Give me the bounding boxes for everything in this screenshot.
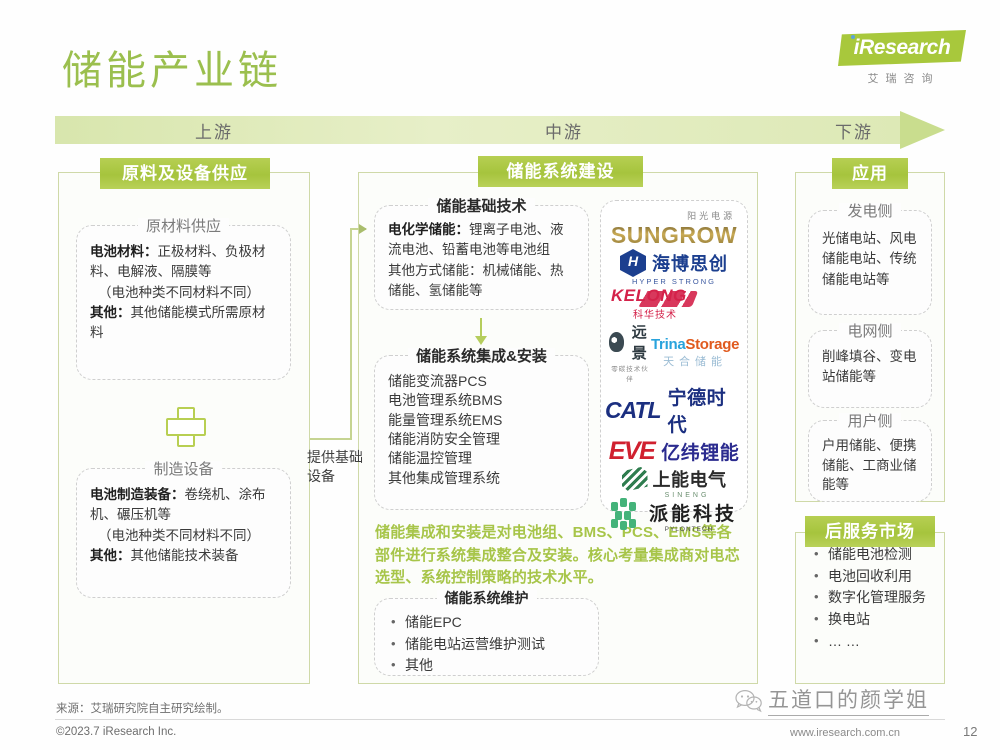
- iresearch-logo: iResearch 艾瑞咨询: [830, 30, 970, 92]
- down-arrow-head: [475, 336, 487, 345]
- list-item: 储能EPC: [389, 612, 598, 634]
- wechat-watermark-text: 五道口的颜学姐: [768, 684, 929, 716]
- down-arrow-icon: [474, 318, 488, 346]
- list-item: 电池回收利用: [812, 566, 940, 588]
- box-generation-side-title-text: 发电侧: [839, 203, 900, 220]
- connector-horizontal-bottom: [310, 438, 352, 440]
- list-item: 储能电站运营维护测试: [389, 634, 598, 656]
- afterservice-list: 储能电池检测 电池回收利用 数字化管理服务 换电站 … …: [812, 544, 940, 652]
- box-generation-side-title: 发电侧: [809, 200, 931, 221]
- sineng-mark-icon: [622, 467, 648, 491]
- value-chain-arrow: 上游 中游 下游: [55, 116, 945, 144]
- brand-eve-wordmark: EVE: [609, 437, 655, 466]
- brand-kelong-cn: 科华技术: [611, 306, 687, 321]
- brand-pylontech-cn: 派能科技: [649, 499, 737, 526]
- brand-catl-cn: 宁德时代: [668, 383, 743, 437]
- box-user-side: 用户侧 户用储能、便携储能、工商业储能等: [808, 420, 932, 502]
- raw-line-1: 电池材料：正极材料、负极材料、电解液、隔膜等: [90, 242, 278, 283]
- logo-dot-icon: [851, 35, 855, 39]
- down-arrow-stem: [480, 318, 482, 338]
- envision-mark-icon: [609, 332, 624, 352]
- box-grid-side: 电网侧 削峰填谷、变电站储能等: [808, 330, 932, 408]
- source-note: 来源：艾瑞研究院自主研究绘制。: [56, 700, 229, 716]
- brand-hyperstrong-cn: 海博思创: [652, 250, 728, 276]
- box-base-technology: 储能基础技术 电化学储能：锂离子电池、液流电池、铅蓄电池等电池组 其他方式储能：…: [374, 205, 589, 310]
- box-system-maintenance-list: 储能EPC 储能电站运营维护测试 其他: [375, 599, 598, 677]
- arrow-head-icon: [900, 111, 945, 149]
- connector-vertical: [350, 228, 352, 440]
- badge-upstream: 原料及设备供应: [100, 158, 270, 189]
- box-manufacturing-equipment: 制造设备 电池制造装备：卷绕机、涂布机、碾压机等 （电池种类不同材料不同） 其他…: [76, 468, 291, 598]
- raw-line-2: （电池种类不同材料不同）: [90, 283, 278, 303]
- brand-trina: TrinaStorage 天合储能: [651, 336, 739, 369]
- box-system-integration: 储能系统集成&安装 储能变流器PCS 电池管理系统BMS 能量管理系统EMS 储…: [374, 355, 589, 510]
- list-item: 其他: [389, 655, 598, 677]
- brand-envision-sub: 零碳技术伙伴: [609, 363, 651, 383]
- kelong-swoosh-icon: [638, 291, 698, 307]
- equip-line-2: （电池种类不同材料不同）: [90, 526, 278, 546]
- brand-sineng: 上能电气 SINENG: [622, 466, 727, 499]
- box-raw-materials: 原材料供应 电池材料：正极材料、负极材料、电解液、隔膜等 （电池种类不同材料不同…: [76, 225, 291, 380]
- basetech-line-2-label: 其他方式储能：: [388, 263, 483, 278]
- footer-divider: [55, 719, 945, 720]
- box-system-integration-body: 储能变流器PCS 电池管理系统BMS 能量管理系统EMS 储能消防安全管理 储能…: [375, 356, 588, 498]
- page-number: 12: [963, 724, 977, 739]
- equip-line-3: 其他：其他储能技术装备: [90, 546, 278, 566]
- brand-pylontech: 派能科技 PYLONTECH: [611, 499, 737, 533]
- wechat-icon: [735, 689, 761, 711]
- badge-application: 应用: [832, 158, 908, 189]
- brand-hyperstrong-en: HYPER STRONG: [620, 277, 728, 286]
- box-system-maintenance-title-text: 储能系统维护: [437, 590, 537, 606]
- equip-line-1: 电池制造装备：卷绕机、涂布机、碾压机等: [90, 485, 278, 526]
- list-item: 数字化管理服务: [812, 587, 940, 609]
- logo-wordmark: iResearch: [838, 30, 966, 66]
- plus-icon: [167, 408, 201, 442]
- box-manufacturing-equipment-title: 制造设备: [77, 458, 290, 479]
- raw-line-1-label: 电池材料：: [90, 244, 158, 259]
- website-url: www.iresearch.com.cn: [790, 727, 900, 739]
- raw-line-3: 其他：其他储能模式所需原材料: [90, 303, 278, 344]
- box-manufacturing-equipment-body: 电池制造装备：卷绕机、涂布机、碾压机等 （电池种类不同材料不同） 其他：其他储能…: [77, 469, 290, 576]
- brand-kelong: KELONG 科华技术: [605, 286, 743, 321]
- box-system-integration-title: 储能系统集成&安装: [375, 345, 588, 366]
- logo-shape-icon: iResearch: [838, 30, 966, 66]
- integration-item: 电池管理系统BMS: [388, 391, 576, 410]
- hyperstrong-mark-icon: H: [620, 249, 646, 277]
- badge-afterservice: 后服务市场: [805, 516, 935, 547]
- box-base-technology-title: 储能基础技术: [375, 195, 588, 216]
- box-system-maintenance: 储能系统维护 储能EPC 储能电站运营维护测试 其他: [374, 598, 599, 676]
- brand-catl-wordmark: CATL: [605, 397, 661, 424]
- basetech-line-1: 电化学储能：锂离子电池、液流电池、铅蓄电池等电池组: [388, 220, 576, 261]
- band-label-midstream: 中游: [545, 118, 583, 143]
- brand-sungrow-cn: 阳光电源: [611, 209, 737, 222]
- box-system-maintenance-title: 储能系统维护: [375, 588, 598, 608]
- pylontech-mark-icon: [611, 500, 641, 526]
- list-item: 换电站: [812, 609, 940, 631]
- arrow-body: [55, 116, 900, 144]
- box-generation-side-body: 光储电站、风电储能电站、传统储能电站等: [809, 211, 931, 300]
- brand-sineng-en: SINENG: [622, 492, 727, 499]
- brand-hyperstrong: H 海博思创 HYPER STRONG: [620, 249, 728, 286]
- basetech-line-1-label: 电化学储能：: [388, 222, 469, 237]
- plus-icon-fill: [179, 420, 190, 431]
- connector-arrowhead-icon: [359, 224, 367, 234]
- box-user-side-title-text: 用户侧: [839, 413, 900, 430]
- brand-sineng-cn: 上能电气: [653, 466, 727, 492]
- list-item: 储能电池检测: [812, 544, 940, 566]
- integration-item: 储能变流器PCS: [388, 372, 576, 391]
- box-grid-side-title-text: 电网侧: [839, 323, 900, 340]
- box-base-technology-title-text: 储能基础技术: [428, 198, 534, 215]
- box-system-integration-title-text: 储能系统集成&安装: [408, 348, 555, 365]
- slide-canvas: 储能产业链 iResearch 艾瑞咨询 上游 中游 下游 原料及设备供应 储能…: [0, 0, 1000, 750]
- badge-midstream: 储能系统建设: [478, 156, 643, 187]
- brand-trina-cn: 天合储能: [651, 353, 739, 369]
- brand-eve-cn: 亿纬锂能: [661, 438, 739, 465]
- box-grid-side-title: 电网侧: [809, 320, 931, 341]
- logo-subtitle: 艾瑞咨询: [830, 70, 970, 86]
- integration-item: 储能温控管理: [388, 449, 576, 468]
- page-title: 储能产业链: [62, 38, 282, 96]
- wechat-watermark: 五道口的颜学姐: [735, 684, 929, 716]
- integration-item: 能量管理系统EMS: [388, 411, 576, 430]
- connector-label: 提供基础设备: [307, 448, 369, 486]
- equip-line-3-label: 其他：: [90, 548, 131, 563]
- brand-sungrow-wordmark: SUNGROW: [611, 222, 737, 249]
- vendor-logo-panel: 阳光电源 SUNGROW H 海博思创 HYPER STRONG KELONG …: [600, 200, 748, 512]
- band-label-upstream: 上游: [195, 118, 233, 143]
- brand-row-envision-trina: 远景 零碳技术伙伴 TrinaStorage 天合储能: [605, 321, 743, 383]
- brand-envision: 远景 零碳技术伙伴: [609, 321, 651, 383]
- box-raw-materials-title-text: 原材料供应: [138, 218, 229, 235]
- copyright: ©2023.7 iResearch Inc.: [56, 726, 176, 738]
- box-base-technology-body: 电化学储能：锂离子电池、液流电池、铅蓄电池等电池组 其他方式储能：机械储能、热储…: [375, 206, 588, 311]
- brand-eve: EVE 亿纬锂能: [605, 437, 743, 466]
- box-generation-side: 发电侧 光储电站、风电储能电站、传统储能电站等: [808, 210, 932, 315]
- brand-catl: CATL 宁德时代: [605, 383, 743, 437]
- box-manufacturing-equipment-title-text: 制造设备: [145, 461, 221, 478]
- basetech-line-2: 其他方式储能：机械储能、热储能、氢储能等: [388, 261, 576, 302]
- raw-line-3-label: 其他：: [90, 305, 131, 320]
- integration-item: 其他集成管理系统: [388, 469, 576, 488]
- brand-sungrow: 阳光电源 SUNGROW: [611, 209, 737, 249]
- box-user-side-title: 用户侧: [809, 410, 931, 431]
- box-raw-materials-body: 电池材料：正极材料、负极材料、电解液、隔膜等 （电池种类不同材料不同） 其他：其…: [77, 226, 290, 353]
- brand-envision-cn: 远景: [628, 321, 651, 363]
- list-item: … …: [812, 631, 940, 653]
- equip-line-3-text: 其他储能技术装备: [131, 548, 239, 563]
- integration-item: 储能消防安全管理: [388, 430, 576, 449]
- box-user-side-body: 户用储能、便携储能、工商业储能等: [809, 421, 931, 505]
- band-label-downstream: 下游: [835, 118, 873, 143]
- equip-line-1-label: 电池制造装备：: [90, 487, 185, 502]
- box-raw-materials-title: 原材料供应: [77, 215, 290, 236]
- brand-trina-wordmark: TrinaStorage: [651, 336, 739, 353]
